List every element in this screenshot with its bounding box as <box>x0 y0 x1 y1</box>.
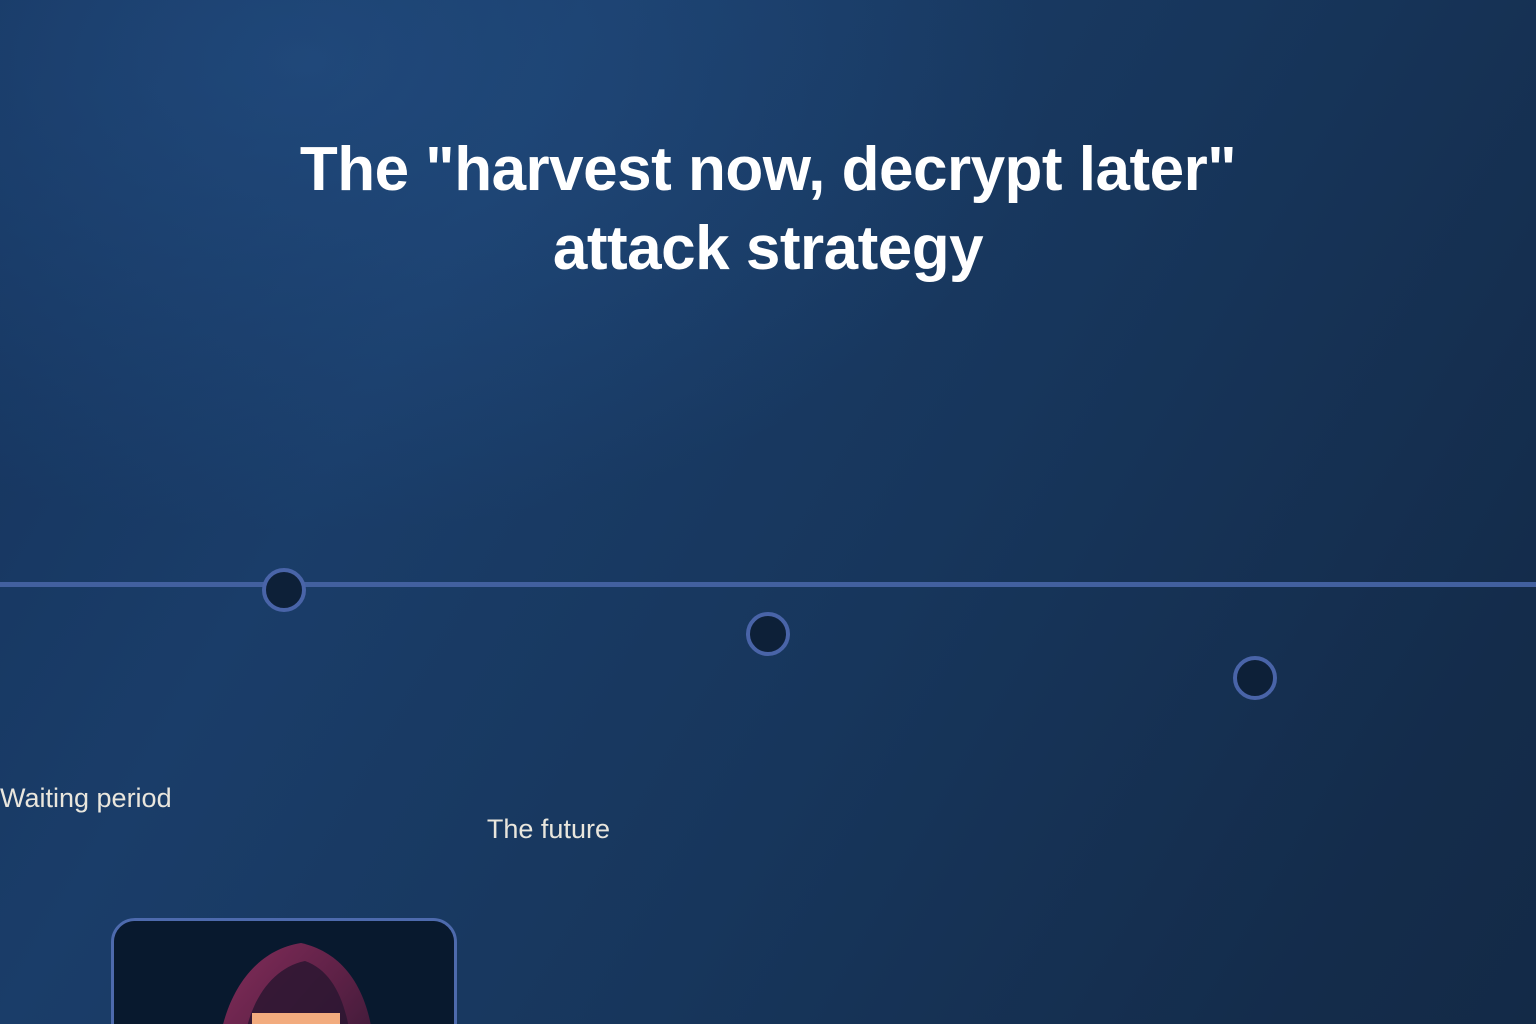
timeline-label-today: Today <box>0 752 1052 783</box>
timeline-label-waiting-period: Waiting period <box>0 783 1536 814</box>
infographic-canvas: The "harvest now, decrypt later" attack … <box>0 0 1536 1024</box>
card-harvest-now[interactable] <box>111 918 457 1024</box>
page-title: The "harvest now, decrypt later" attack … <box>0 130 1536 289</box>
timeline-node-the-future[interactable] <box>1233 656 1277 700</box>
timeline-node-waiting-period[interactable] <box>746 612 790 656</box>
timeline-axis <box>0 582 1536 587</box>
timeline-node-today[interactable] <box>262 568 306 612</box>
hacker-illustration-icon <box>114 921 454 1024</box>
timeline-label-the-future: The future <box>487 814 1536 845</box>
